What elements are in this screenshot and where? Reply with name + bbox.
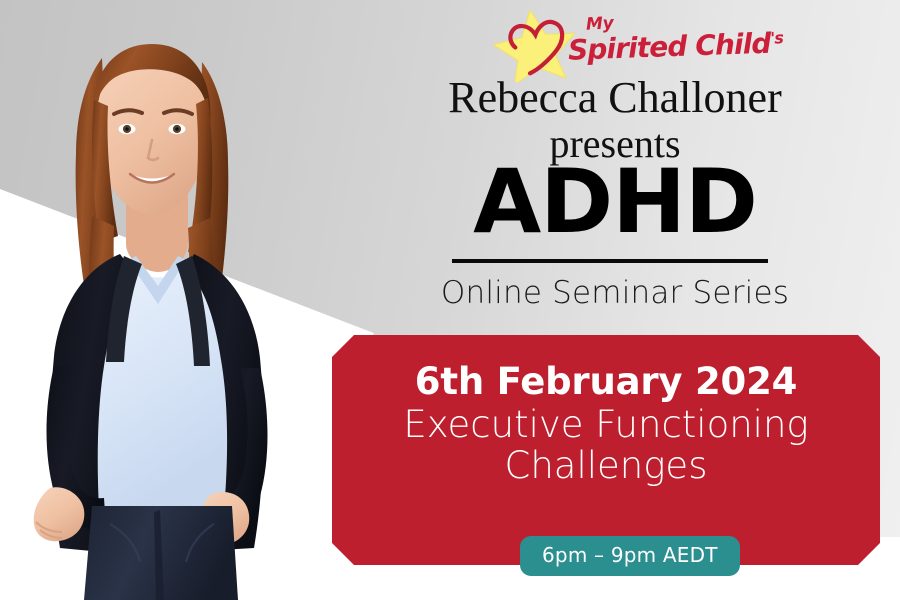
event-time-badge: 6pm – 9pm AEDT [520,536,740,576]
presenter-name: Rebecca Challoner [330,76,900,120]
event-date: 6th February 2024 [415,362,797,402]
brand-wordmark: My Spirited Child's [568,8,748,82]
event-topic: Executive Functioning Challenges [403,404,808,487]
seminar-poster: My Spirited Child's Rebecca Challoner pr… [0,0,900,600]
poster-content: My Spirited Child's Rebecca Challoner pr… [330,0,900,600]
brand-main-text: Spirited Child's [567,26,783,66]
event-panel: 6th February 2024 Executive Functioning … [332,335,880,565]
event-topic-line-1: Executive Functioning [403,404,808,445]
title-divider [452,259,768,263]
event-topic-line-2: Challenges [403,445,808,486]
page-title: ADHD [330,158,900,246]
event-panel-inner: 6th February 2024 Executive Functioning … [332,335,880,565]
brand-logo: My Spirited Child's [485,8,745,82]
page-subtitle: Online Seminar Series [330,278,900,309]
presenter-portrait [6,36,336,600]
